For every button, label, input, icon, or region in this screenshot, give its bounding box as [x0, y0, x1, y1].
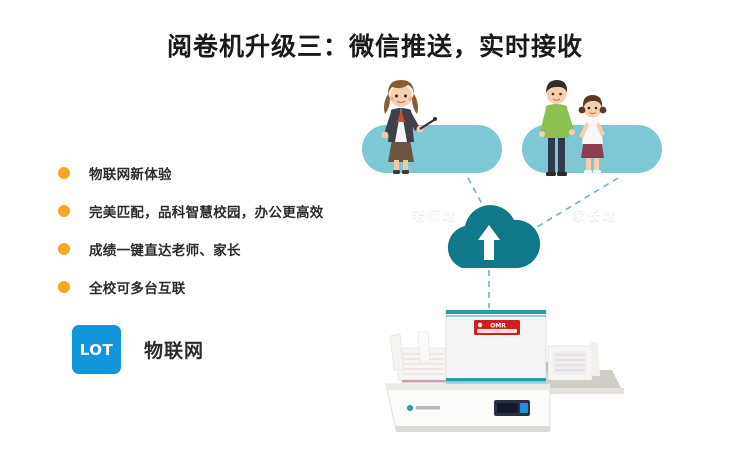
bullet-text: 全校可多台互联	[89, 277, 186, 297]
bullet-text: 物联网新体验	[89, 163, 172, 183]
list-item: 全校可多台互联	[58, 268, 358, 306]
iot-badge-group: LOT 物联网	[72, 325, 204, 374]
teacher-pill[interactable]	[362, 80, 502, 174]
iot-badge: LOT	[72, 325, 121, 374]
bullet-text: 完美匹配，品科智慧校园，办公更高效	[89, 201, 324, 221]
bullet-dot-icon	[58, 205, 70, 217]
list-item: 完美匹配，品科智慧校园，办公更高效	[58, 192, 358, 230]
omr-scanner-icon[interactable]: OMR	[386, 310, 624, 432]
page-title: 阅卷机升级三：微信推送，实时接收	[0, 27, 750, 63]
iot-diagram: OMR 老师端 家长端	[350, 70, 750, 450]
feature-bullet-list: 物联网新体验 完美匹配，品科智慧校园，办公更高效 成绩一键直达老师、家长 全校可…	[58, 154, 358, 306]
parent-pill-label: 家长端	[572, 205, 617, 224]
svg-text:OMR: OMR	[490, 323, 506, 330]
bullet-text: 成绩一键直达老师、家长	[89, 239, 241, 259]
bullet-dot-icon	[58, 243, 70, 255]
iot-badge-label: 物联网	[144, 336, 204, 363]
list-item: 成绩一键直达老师、家长	[58, 230, 358, 268]
cloud-upload-icon[interactable]	[448, 205, 540, 268]
list-item: 物联网新体验	[58, 154, 358, 192]
teacher-pill-label: 老师端	[412, 205, 457, 224]
diagram-canvas: OMR	[350, 70, 750, 450]
parent-pill[interactable]	[522, 80, 662, 176]
bullet-dot-icon	[58, 281, 70, 293]
bullet-dot-icon	[58, 167, 70, 179]
